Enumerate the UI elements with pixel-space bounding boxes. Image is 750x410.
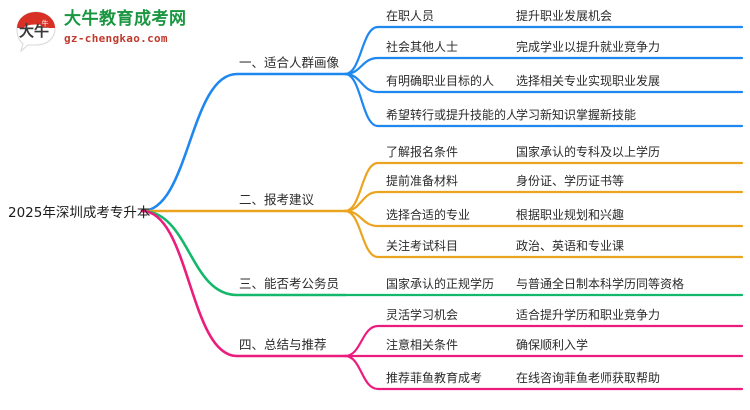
leaf-label[interactable]: 社会其他人士	[386, 38, 458, 58]
logo-brand-name: 大牛教育成考网	[64, 9, 187, 29]
leaf-detail[interactable]: 提升职业发展机会	[516, 7, 612, 27]
site-logo: 大牛 牛 大牛教育成考网 gz-chengkao.com	[14, 8, 204, 56]
logo-text-block: 大牛教育成考网 gz-chengkao.com	[64, 9, 187, 46]
leaf-detail[interactable]: 身份证、学历证书等	[516, 172, 624, 192]
leaf-label[interactable]: 希望转行或提升技能的人	[386, 106, 518, 126]
leaf-detail[interactable]: 学习新知识掌握新技能	[516, 106, 636, 126]
leaf-detail[interactable]: 适合提升学历和职业竞争力	[516, 306, 660, 326]
mindmap-canvas: 大牛 牛 大牛教育成考网 gz-chengkao.com 2025年深圳成考专升…	[0, 0, 750, 410]
leaf-label[interactable]: 在职人员	[386, 7, 434, 27]
logo-bubble-icon: 大牛 牛	[14, 10, 58, 52]
leaf-label[interactable]: 推荐菲鱼教育成考	[386, 369, 482, 389]
leaf-label[interactable]: 灵活学习机会	[386, 306, 458, 326]
leaf-detail[interactable]: 确保顺利入学	[516, 336, 588, 356]
leaf-detail[interactable]: 政治、英语和专业课	[516, 237, 624, 257]
mindmap-root-label[interactable]: 2025年深圳成考专升本	[8, 201, 150, 221]
leaf-detail[interactable]: 国家承认的专科及以上学历	[516, 143, 660, 163]
leaf-label[interactable]: 国家承认的正规学历	[386, 275, 494, 295]
leaf-label[interactable]: 提前准备材料	[386, 172, 458, 192]
branch-title[interactable]: 四、总结与推荐	[239, 334, 327, 356]
leaf-detail[interactable]: 与普通全日制本科学历同等资格	[516, 275, 684, 295]
leaf-detail[interactable]: 选择相关专业实现职业发展	[516, 72, 660, 92]
leaf-label[interactable]: 选择合适的专业	[386, 206, 470, 226]
leaf-detail[interactable]: 在线咨询菲鱼老师获取帮助	[516, 369, 660, 389]
logo-brand-url: gz-chengkao.com	[64, 31, 187, 46]
leaf-label[interactable]: 有明确职业目标的人	[386, 72, 494, 92]
leaf-detail[interactable]: 完成学业以提升就业竞争力	[516, 38, 660, 58]
leaf-label[interactable]: 注意相关条件	[386, 336, 458, 356]
svg-text:牛: 牛	[42, 19, 49, 28]
leaf-label[interactable]: 关注考试科目	[386, 237, 458, 257]
branch-title[interactable]: 三、能否考公务员	[239, 273, 339, 295]
branch-title[interactable]: 二、报考建议	[239, 189, 314, 211]
branch-title[interactable]: 一、适合人群画像	[239, 52, 339, 74]
leaf-label[interactable]: 了解报名条件	[386, 143, 458, 163]
leaf-detail[interactable]: 根据职业规划和兴趣	[516, 206, 624, 226]
